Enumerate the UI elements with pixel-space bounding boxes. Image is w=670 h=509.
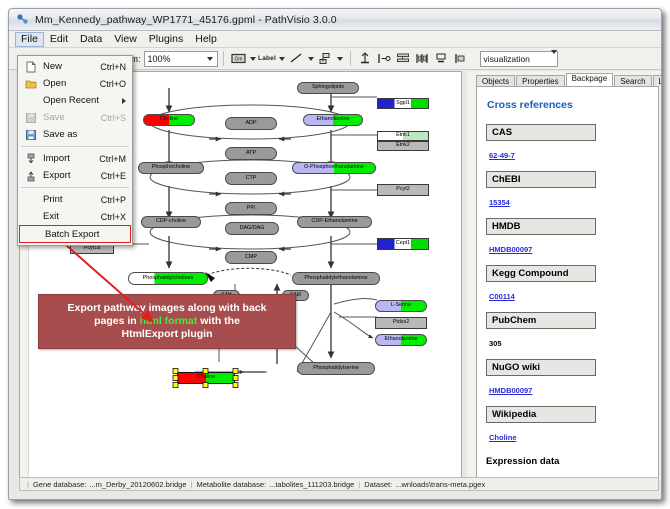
status-metabolite-database-label: Metabolite database: — [196, 480, 266, 489]
xref-label-wikipedia: Wikipedia — [486, 406, 596, 423]
menu-item-exit[interactable]: Exit Ctrl+X — [18, 208, 132, 225]
node-ctp[interactable]: CTP — [225, 172, 277, 185]
zoom-value: 100% — [148, 54, 171, 64]
label-icon[interactable]: Label — [259, 50, 276, 67]
menu-item-export[interactable]: Export Ctrl+E — [18, 167, 132, 184]
interaction-icon[interactable] — [317, 50, 334, 67]
menu-plugins[interactable]: Plugins — [143, 32, 189, 47]
menu-separator-1 — [21, 146, 129, 147]
align-left-icon[interactable] — [414, 50, 431, 67]
xref-value-wikipedia[interactable]: Choline — [489, 433, 517, 442]
menu-file[interactable]: File — [15, 32, 44, 47]
node-cmp[interactable]: CMP — [225, 251, 277, 264]
menu-item-new-label: New — [39, 61, 100, 72]
submenu-arrow-icon — [122, 98, 126, 104]
node-choline-top[interactable]: Choline — [143, 114, 195, 126]
menu-item-batch-export[interactable]: Batch Export — [19, 225, 131, 243]
node-l-serine[interactable]: L-Serine — [375, 300, 427, 312]
distribute-horizontal-icon[interactable] — [376, 50, 393, 67]
node-ethanolamine-bottom[interactable]: Ethanolamine — [375, 334, 427, 346]
status-dataset-value: ...wnloads\trans-meta.pgex — [395, 480, 485, 489]
open-recent-spacer — [22, 94, 39, 108]
node-adp[interactable]: ADP — [225, 117, 277, 130]
zoom-combobox[interactable]: 100% — [144, 51, 218, 67]
line-icon[interactable] — [288, 50, 305, 67]
chevron-down-icon[interactable] — [204, 52, 217, 66]
node-ptdss2[interactable]: Ptdss2 — [375, 317, 427, 329]
import-icon — [22, 152, 39, 166]
menu-item-new-shortcut: Ctrl+N — [100, 62, 132, 72]
pathvisio-icon — [16, 13, 29, 26]
status-gene-database-label: Gene database: — [33, 480, 86, 489]
node-etnk1[interactable]: Etnk1 — [377, 131, 429, 141]
callout-line-2: pages in html format with the — [68, 315, 267, 328]
node-etnk2[interactable]: Etnk2 — [377, 141, 429, 151]
xref-value-pubchem: 305 — [489, 339, 502, 348]
menu-separator-2 — [21, 187, 129, 188]
xref-label-hmdb: HMDB — [486, 218, 596, 235]
tab-backpage[interactable]: Backpage — [566, 73, 614, 87]
node-choline-selected-group[interactable]: Choline — [169, 368, 243, 388]
interaction-dropdown-icon[interactable] — [335, 50, 345, 67]
menu-item-export-shortcut: Ctrl+E — [101, 171, 132, 181]
menu-item-print[interactable]: Print Ctrl+P — [18, 191, 132, 208]
xref-label-cas: CAS — [486, 124, 596, 141]
node-sgpl1[interactable]: Sgpl1 — [377, 98, 429, 109]
batch-export-spacer — [24, 227, 41, 241]
menu-item-export-label: Export — [39, 170, 101, 181]
xref-value-chebi[interactable]: 15354 — [489, 198, 510, 207]
save-icon — [22, 111, 39, 125]
menu-item-batch-export-label: Batch Export — [41, 229, 130, 240]
menu-item-open-recent-label: Open Recent — [39, 95, 122, 106]
status-divider-1: | — [191, 480, 193, 489]
menu-item-new[interactable]: New Ctrl+N — [18, 58, 132, 75]
node-cdp-ethanolamine[interactable]: CDP-Ethanolamine — [297, 216, 372, 228]
align-top-icon[interactable] — [357, 50, 374, 67]
menu-bar[interactable]: File Edit Data View Plugins Help — [9, 31, 661, 48]
callout-line-2-pre: pages in — [94, 315, 140, 327]
screenshot-root: Mm_Kennedy_pathway_WP1771_45176.gpml - P… — [0, 0, 670, 509]
node-phosphatidylethanolamine[interactable]: Phosphatidylethanolamine — [292, 272, 380, 285]
open-folder-icon — [22, 77, 39, 91]
save-as-icon — [22, 128, 39, 142]
callout-line-2-post: with the — [197, 315, 240, 327]
cross-references-heading: Cross references — [487, 99, 649, 111]
node-ethanolamine-top[interactable]: Ethanolamine — [303, 114, 363, 126]
callout-highlight: html format — [140, 315, 198, 327]
stack-icon[interactable] — [395, 50, 412, 67]
menu-item-exit-shortcut: Ctrl+X — [101, 212, 132, 222]
menu-item-exit-label: Exit — [39, 211, 101, 222]
menu-item-open-shortcut: Ctrl+O — [100, 79, 132, 89]
menu-item-print-shortcut: Ctrl+P — [101, 195, 132, 205]
status-divider-2: | — [358, 480, 360, 489]
line-dropdown-icon[interactable] — [306, 50, 316, 67]
visualization-combobox[interactable]: visualization — [480, 51, 558, 67]
node-atp[interactable]: ATP — [225, 147, 277, 160]
menu-data[interactable]: Data — [74, 32, 108, 47]
node-dag[interactable]: DAG/DAG — [225, 222, 279, 235]
node-ppi[interactable]: PPi — [225, 202, 277, 215]
xref-value-hmdb[interactable]: HMDB00097 — [489, 245, 532, 254]
label-dropdown-icon[interactable] — [277, 50, 287, 67]
label-text: Label — [258, 55, 276, 62]
menu-item-open-recent[interactable]: Open Recent — [18, 92, 132, 109]
menu-item-print-label: Print — [39, 194, 101, 205]
selection-handles[interactable] — [169, 368, 243, 388]
node-pcyt2[interactable]: Pcyt2 — [377, 184, 429, 196]
xref-value-kegg-compound[interactable]: C00114 — [489, 292, 515, 301]
menu-item-import-shortcut: Ctrl+M — [99, 154, 132, 164]
menu-item-open[interactable]: Open Ctrl+O — [18, 75, 132, 92]
status-dataset-label: Dataset: — [364, 480, 392, 489]
xref-label-chebi: ChEBI — [486, 171, 596, 188]
node-phosphocholine[interactable]: Phosphocholine — [138, 162, 204, 174]
chevron-down-icon-2[interactable] — [551, 54, 557, 64]
status-bar: | Gene database: ...m_Derby_20120602.bri… — [19, 477, 659, 491]
title-bar: Mm_Kennedy_pathway_WP1771_45176.gpml - P… — [9, 9, 661, 31]
node-phosphatidylcholines[interactable]: Phosphatidylcholines — [128, 272, 208, 285]
side-panel: Objects Properties Backpage Search Legen… — [467, 71, 662, 480]
menu-item-save-label: Save — [39, 112, 101, 123]
side-panel-right-gutter[interactable] — [660, 86, 662, 478]
xref-label-pubchem: PubChem — [486, 312, 596, 329]
export-icon — [22, 169, 39, 183]
menu-item-save-as[interactable]: Save as — [18, 126, 132, 143]
print-spacer — [22, 193, 39, 207]
annotation-callout: Export pathway images along with back pa… — [38, 294, 296, 349]
datanode-dropdown-icon[interactable] — [248, 50, 258, 67]
svg-text:Gm: Gm — [234, 56, 242, 62]
node-cept1[interactable]: Cept1 — [377, 238, 429, 250]
expression-data-heading: Expression data — [486, 456, 649, 467]
menu-help[interactable]: Help — [189, 32, 223, 47]
menu-item-import-label: Import — [39, 153, 99, 164]
group-icon[interactable] — [433, 50, 450, 67]
node-sphingolipids[interactable]: Sphingolipids — [297, 82, 359, 94]
xref-label-nugo-wiki: NuGO wiki — [486, 359, 596, 376]
menu-item-import[interactable]: Import Ctrl+M — [18, 150, 132, 167]
node-cdp-choline[interactable]: CDP-choline — [141, 216, 201, 228]
status-gene-database-value: ...m_Derby_20120602.bridge — [89, 480, 186, 489]
menu-item-save-as-label: Save as — [39, 129, 126, 140]
visualization-value: visualization — [484, 54, 530, 64]
datanode-icon[interactable]: Gm — [230, 50, 247, 67]
menu-edit[interactable]: Edit — [44, 32, 74, 47]
node-o-phosphoethanolamine[interactable]: O-Phosphoethanolamine — [292, 162, 376, 174]
xref-label-kegg-compound: Kegg Compound — [486, 265, 596, 282]
xref-value-cas[interactable]: 62-49-7 — [489, 151, 515, 160]
exit-spacer — [22, 210, 39, 224]
status-metabolite-database-value: ...tabolites_111203.bridge — [269, 480, 354, 489]
menu-view[interactable]: View — [108, 32, 143, 47]
node-phosphatidylserine[interactable]: Phosphatidylserine — [297, 362, 375, 375]
menu-item-open-label: Open — [39, 78, 100, 89]
xref-value-nugo-wiki[interactable]: HMDB00097 — [489, 386, 532, 395]
callout-line-3: HtmlExport plugin — [68, 328, 267, 341]
toolbar-separator-2 — [350, 51, 351, 66]
file-menu-dropdown[interactable]: New Ctrl+N Open Ctrl+O Open Recent — [17, 55, 133, 246]
new-file-icon — [22, 60, 39, 74]
status-divider-0: | — [27, 480, 29, 489]
menu-item-save: Save Ctrl+S — [18, 109, 132, 126]
ungroup-icon[interactable] — [452, 50, 469, 67]
window-title: Mm_Kennedy_pathway_WP1771_45176.gpml - P… — [35, 14, 337, 26]
callout-line-1: Export pathway images along with back — [68, 302, 267, 315]
application-window: Mm_Kennedy_pathway_WP1771_45176.gpml - P… — [8, 8, 662, 500]
backpage-content: Cross references CAS 62-49-7 ChEBI 15354… — [476, 86, 659, 478]
toolbar-separator — [223, 51, 224, 66]
side-panel-tabs[interactable]: Objects Properties Backpage Search Legen… — [467, 71, 662, 86]
menu-item-save-shortcut: Ctrl+S — [101, 113, 132, 123]
